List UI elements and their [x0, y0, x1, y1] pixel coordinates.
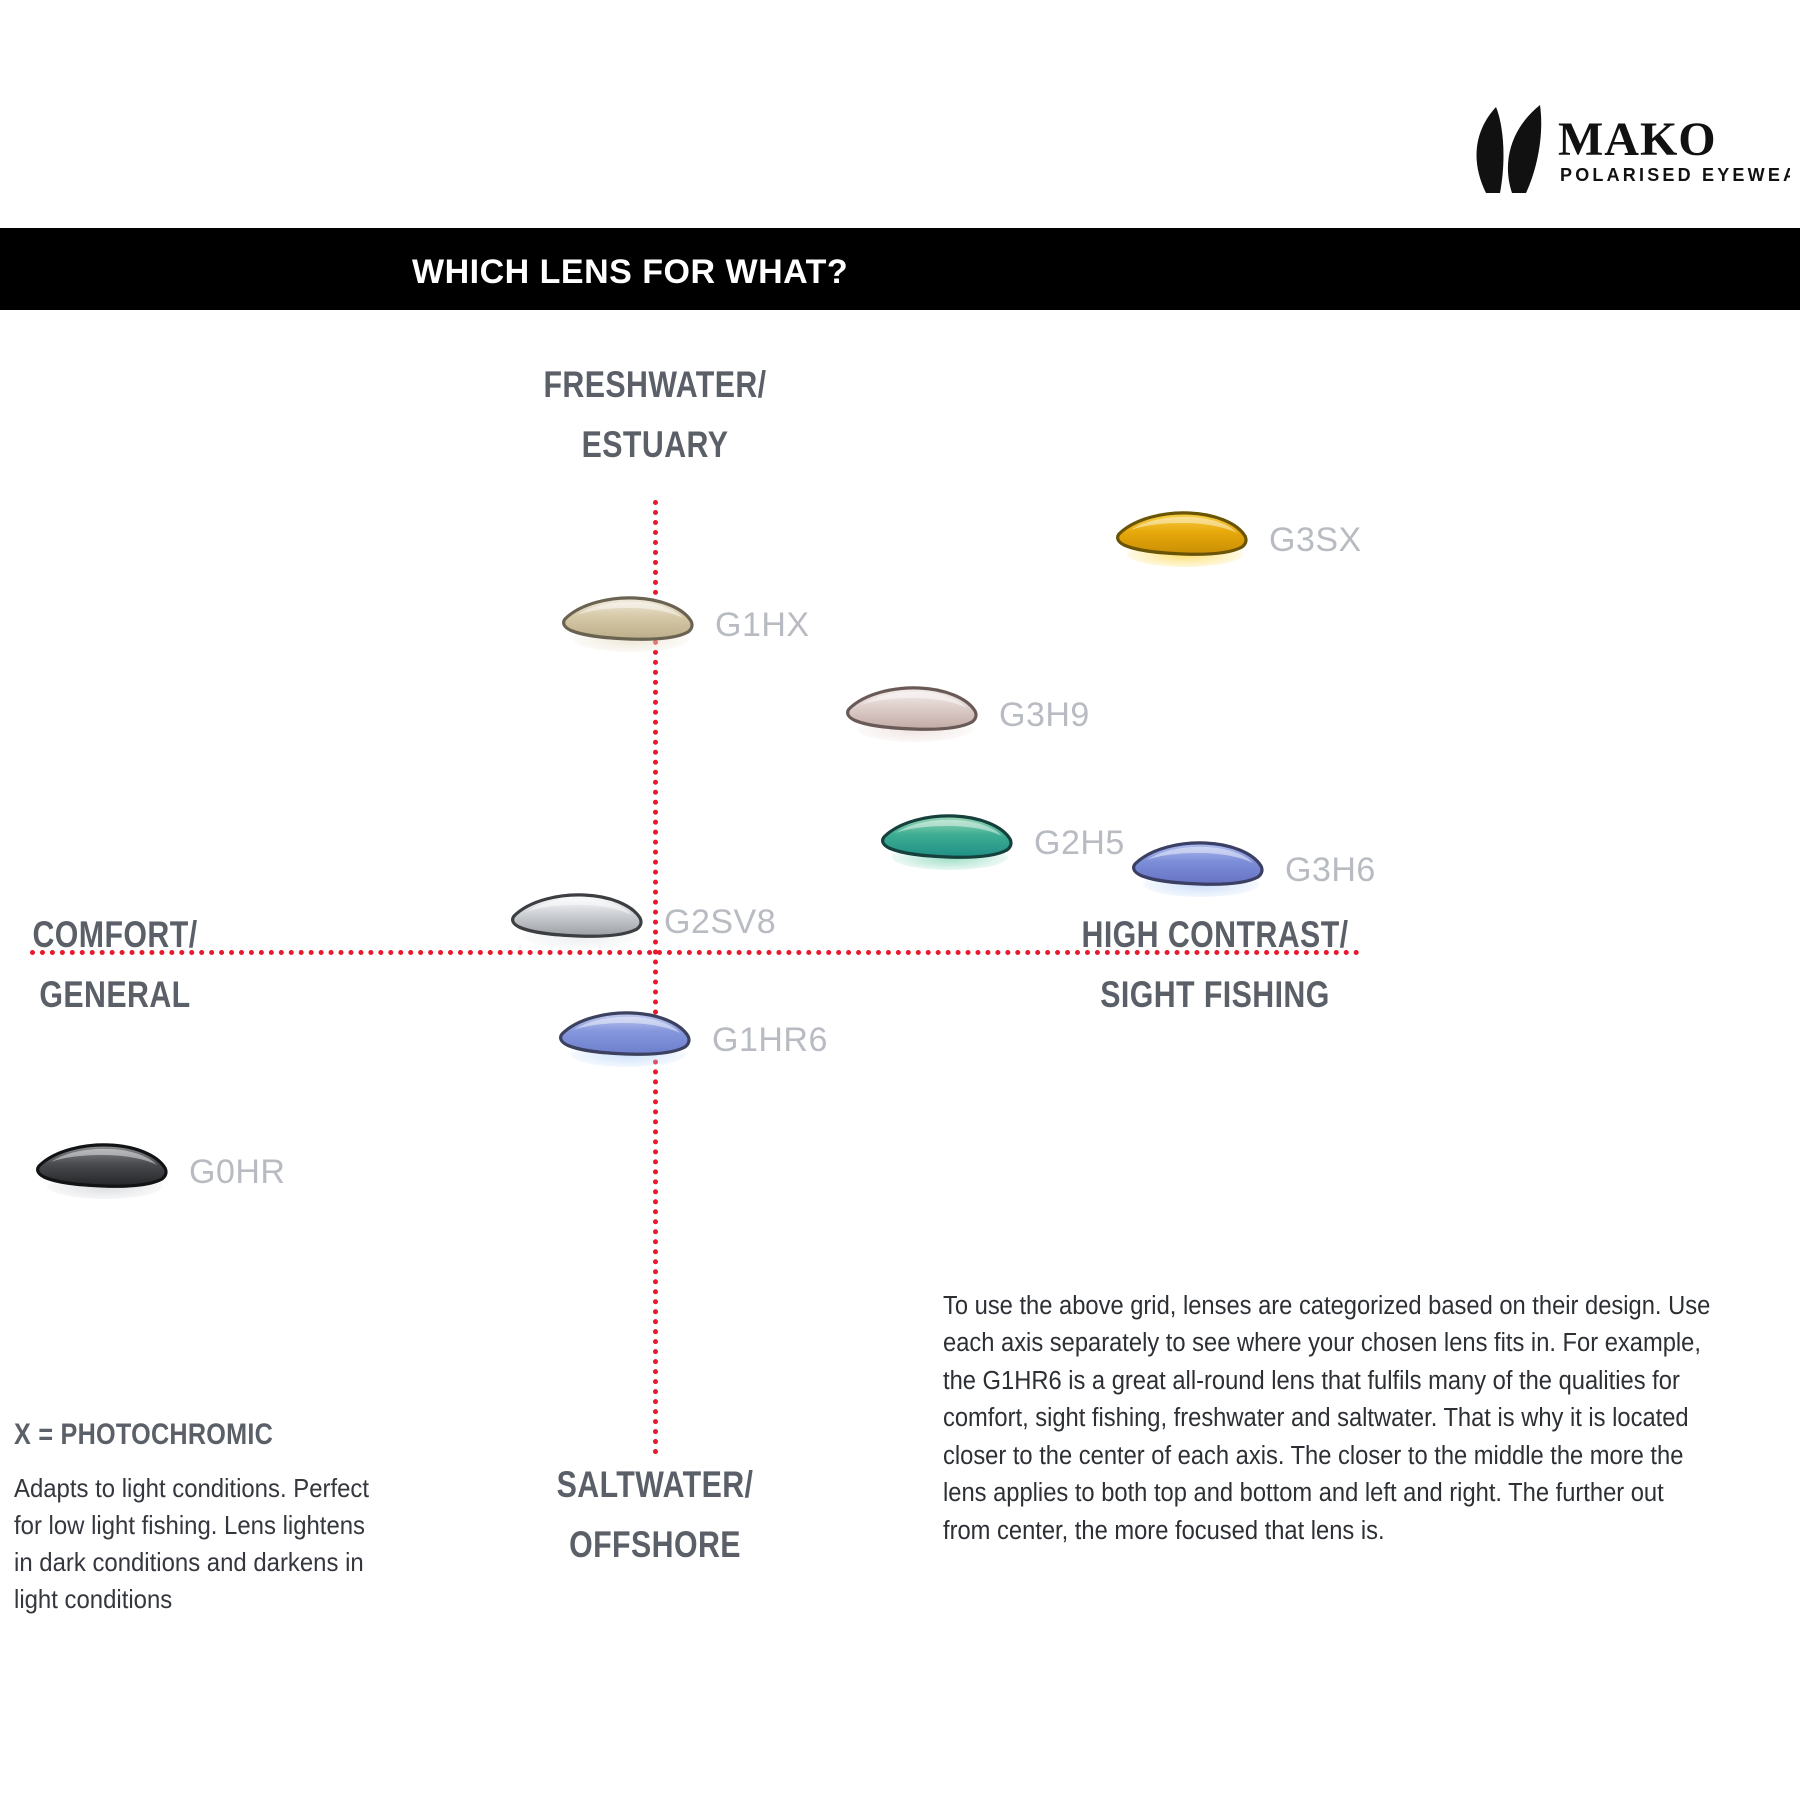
mako-fin-logo: MAKO POLARISED EYEWEAR [1430, 105, 1790, 195]
lens-shape-icon [33, 1142, 171, 1202]
svg-text:MAKO: MAKO [1558, 113, 1717, 166]
lens-marker-g1hx[interactable]: G1HX [559, 595, 810, 655]
grid-explainer-text: To use the above grid, lenses are catego… [943, 1288, 1713, 1550]
lens-shape-icon [843, 685, 981, 745]
lens-code-label: G2H5 [1034, 824, 1125, 863]
lens-code-label: G2SV8 [664, 903, 776, 942]
photochromic-note: X = PHOTOCHROMIC Adapts to light conditi… [14, 1418, 414, 1618]
axis-label-right-line2: SIGHT FISHING [1080, 965, 1351, 1025]
lens-code-label: G0HR [189, 1153, 285, 1192]
lens-shape-icon [508, 892, 646, 952]
axis-label-right-line1: HIGH CONTRAST/ [1080, 905, 1351, 965]
lens-code-label: G1HR6 [712, 1021, 828, 1060]
lens-marker-g1hr6[interactable]: G1HR6 [556, 1010, 828, 1070]
svg-text:POLARISED EYEWEAR: POLARISED EYEWEAR [1560, 165, 1790, 185]
lens-code-label: G3H9 [999, 696, 1090, 735]
axis-label-bottom-line2: OFFSHORE [471, 1515, 840, 1575]
lens-marker-g3sx[interactable]: G3SX [1113, 510, 1362, 570]
lens-marker-g3h9[interactable]: G3H9 [843, 685, 1090, 745]
axis-label-top-line2: ESTUARY [471, 415, 840, 475]
lens-shape-icon [559, 595, 697, 655]
lens-shape-icon [878, 813, 1016, 873]
lens-marker-g2sv8[interactable]: G2SV8 [508, 892, 776, 952]
axis-label-right: HIGH CONTRAST/ SIGHT FISHING [1080, 905, 1351, 1025]
mako-logo: MAKO POLARISED EYEWEAR [1430, 105, 1790, 195]
photochromic-body: Adapts to light conditions. Perfect for … [14, 1470, 382, 1618]
axis-label-left: COMFORT/ GENERAL [13, 905, 218, 1025]
axis-label-top: FRESHWATER/ ESTUARY [471, 355, 840, 475]
page-title: WHICH LENS FOR WHAT? [412, 253, 848, 292]
lens-code-label: G3H6 [1285, 851, 1376, 890]
axis-label-left-line2: GENERAL [13, 965, 218, 1025]
axis-label-left-line1: COMFORT/ [13, 905, 218, 965]
lens-shape-icon [1129, 840, 1267, 900]
title-bar [0, 228, 1800, 310]
lens-shape-icon [556, 1010, 694, 1070]
axis-label-top-line1: FRESHWATER/ [471, 355, 840, 415]
lens-selection-infographic: MAKO POLARISED EYEWEAR WHICH LENS FOR WH… [0, 0, 1800, 1800]
axis-label-bottom: SALTWATER/ OFFSHORE [471, 1455, 840, 1575]
lens-marker-g0hr[interactable]: G0HR [33, 1142, 285, 1202]
lens-marker-g2h5[interactable]: G2H5 [878, 813, 1125, 873]
lens-shape-icon [1113, 510, 1251, 570]
lens-code-label: G3SX [1269, 521, 1362, 560]
photochromic-title: X = PHOTOCHROMIC [14, 1418, 350, 1452]
lens-code-label: G1HX [715, 606, 810, 645]
axis-label-bottom-line1: SALTWATER/ [471, 1455, 840, 1515]
lens-marker-g3h6[interactable]: G3H6 [1129, 840, 1376, 900]
